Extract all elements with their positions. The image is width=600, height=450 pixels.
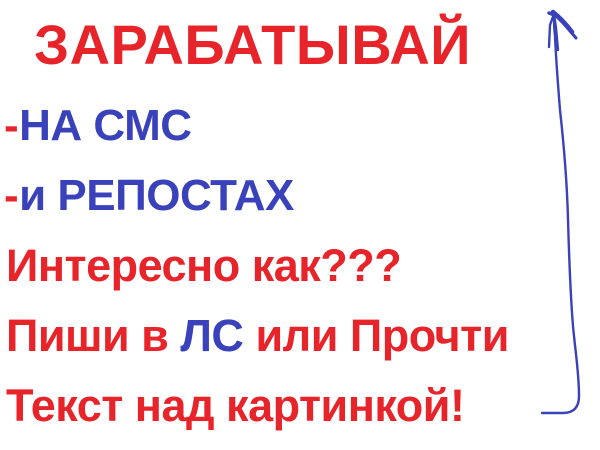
bullet-dash-sms: -: [4, 101, 18, 150]
cta-write-highlight: ЛС: [180, 310, 243, 361]
bullet-dash-reposts: -: [4, 171, 18, 220]
arrow-head-stroke-mid: [554, 14, 558, 50]
headline-text: ЗАРАБАТЫВАЙ: [34, 17, 471, 73]
cta-write-suffix: или Прочти: [243, 310, 508, 361]
hand-drawn-arrow-up-icon: [542, 15, 579, 413]
bullet-label-sms: НА СМС: [19, 101, 191, 150]
call-to-action-write: Пиши в ЛС или Прочти: [6, 313, 509, 358]
promo-poster: ЗАРАБАТЫВАЙ -НА СМС -и РЕПОСТАХ Интересн…: [0, 0, 600, 450]
bullet-line-sms: -НА СМС: [4, 104, 192, 148]
cta-write-prefix: Пиши в: [6, 310, 180, 361]
bullet-line-reposts: -и РЕПОСТАХ: [4, 174, 294, 218]
bullet-label-reposts: и РЕПОСТАХ: [19, 171, 294, 220]
arrow-head-tip: [549, 13, 557, 16]
arrow-head-stroke-right: [554, 14, 576, 38]
arrow-head-stroke-left: [549, 14, 554, 47]
arrow-head-barb: [553, 12, 572, 32]
call-to-action-read: Текст над картинкой!: [6, 383, 464, 428]
question-text: Интересно как???: [6, 243, 401, 288]
